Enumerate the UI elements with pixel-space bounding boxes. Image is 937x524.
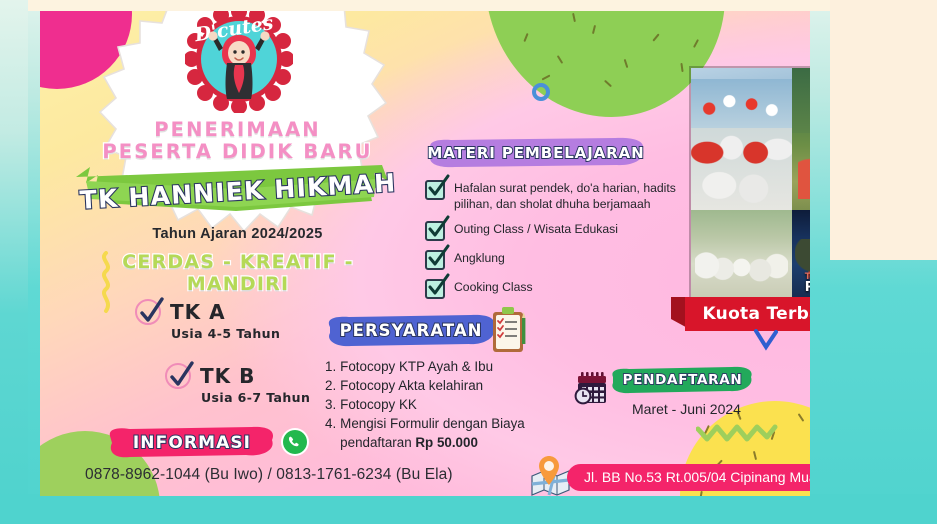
photo-samudra-people: [798, 156, 810, 199]
level-name: TK A: [170, 300, 226, 324]
materi-section: MATERI PEMBELAJARAN Hafalan surat pendek…: [425, 137, 695, 308]
quota-banner-text: Kuota Terbatas: [671, 297, 810, 331]
persyaratan-item: 3. Fotocopy KK: [325, 395, 565, 414]
check-circle-icon: [135, 299, 161, 325]
address-block: Jl. BB No.53 Rt.005/04 Cipinang Muara: [527, 454, 810, 496]
photo-profession-year: 2023 - 2024: [792, 233, 810, 238]
pendaftaran-date: Maret - Juni 2024: [632, 401, 755, 417]
materi-item: Outing Class / Wisata Edukasi: [425, 221, 695, 241]
decor-zigzag-green: [696, 423, 778, 443]
level-name: TK B: [200, 364, 255, 388]
window-top-strip: [0, 0, 937, 11]
materi-item-text: Cooking Class: [454, 279, 533, 295]
decor-green-blob-top: [485, 11, 725, 117]
materi-item: Cooking Class: [425, 279, 695, 299]
informasi-title-banner: INFORMASI: [108, 426, 276, 459]
materi-items: Hafalan surat pendek, do'a harian, hadit…: [425, 180, 695, 299]
photo-profession-subtitle: Dan Kami ada di Kegiatan Tahunan: [792, 226, 810, 231]
pendaftaran-title: PENDAFTARAN: [610, 366, 755, 394]
level-item-tk-b: TK B Usia 6-7 Tahun: [165, 363, 310, 405]
photo-samudra-title: Samudra: [792, 130, 810, 148]
level-age: Usia 4-5 Tahun: [171, 326, 310, 341]
item-fee: Rp 50.000: [415, 435, 478, 450]
school-logo: D'cutes: [185, 11, 293, 113]
check-circle-icon: [165, 363, 191, 389]
persyaratan-item: 4. Mengisi Formulir dengan Biaya pendaft…: [325, 414, 565, 452]
persyaratan-section: PERSYARATAN: [325, 314, 565, 452]
poster-title: PENERIMAAN PESERTA DIDIK BARU: [100, 119, 375, 163]
materi-item-text: Outing Class / Wisata Edukasi: [454, 221, 618, 237]
photo-the-profession: TK HANNIEK HIKMAH Dan Kami ada di Kegiat…: [792, 210, 810, 300]
photo-profession-title: THE PROFESSION: [805, 272, 810, 295]
item-text-2: pendaftaran: [340, 435, 415, 450]
informasi-section: INFORMASI: [108, 426, 276, 459]
photo-profession-school: TK HANNIEK HIKMAH: [792, 214, 810, 225]
school-motto: CERDAS - KREATIF - MANDIRI: [90, 251, 386, 295]
levels-list: TK A Usia 4-5 Tahun TK B Usia 6-7 Tahun: [135, 299, 310, 405]
clipboard-icon: [487, 306, 533, 361]
checkbox-checked-icon: [425, 250, 445, 270]
persyaratan-title-banner: PERSYARATAN: [325, 314, 497, 347]
decor-blue-arrow: [753, 329, 779, 356]
calendar-clock-icon: [574, 371, 610, 410]
photo-flag-ceremony: [691, 68, 792, 210]
pendaftaran-section: PENDAFTARAN Maret - Juni 2024: [610, 366, 755, 417]
checkbox-checked-icon: [425, 180, 445, 200]
persyaratan-item: 2. Fotocopy Akta kelahiran: [325, 376, 565, 395]
item-text: Fotocopy Akta kelahiran: [340, 376, 483, 395]
photo-samudra-park: Ocean Dream Samudra: [792, 68, 810, 210]
address-text: Jl. BB No.53 Rt.005/04 Cipinang Muara: [567, 464, 810, 491]
item-number: 2.: [325, 376, 336, 395]
level-item-tk-a: TK A Usia 4-5 Tahun: [135, 299, 310, 341]
whatsapp-icon[interactable]: [280, 427, 310, 462]
photo-outing-group: [691, 210, 792, 300]
photo-samudra-subtitle: Ocean Dream: [792, 118, 810, 124]
window-right-band: [830, 0, 937, 260]
item-number: 3.: [325, 395, 336, 414]
photo-profession-word: PROFESSION: [805, 280, 810, 295]
academic-year: Tahun Ajaran 2024/2025: [100, 226, 375, 242]
item-text: Mengisi Formulir dengan Biaya: [340, 416, 525, 431]
persyaratan-title: PERSYARATAN: [325, 314, 497, 347]
persyaratan-items: 1. Fotocopy KTP Ayah & Ibu 2. Fotocopy A…: [325, 357, 565, 452]
title-line-1: PENERIMAAN: [100, 119, 375, 141]
pendaftaran-title-banner: PENDAFTARAN: [610, 366, 755, 394]
checkbox-checked-icon: [425, 279, 445, 299]
photo-collage: Ocean Dream Samudra TK HANNIEK HIKMAH Da…: [691, 68, 810, 300]
informasi-title: INFORMASI: [108, 426, 276, 459]
item-number: 1.: [325, 357, 336, 376]
contact-phones: 0878-8962-1044 (Bu Iwo) / 0813-1761-6234…: [85, 466, 453, 484]
window-left-band: [0, 0, 28, 524]
materi-title-banner: MATERI PEMBELAJARAN: [425, 137, 647, 168]
checkbox-checked-icon: [425, 221, 445, 241]
materi-title: MATERI PEMBELAJARAN: [425, 137, 647, 168]
item-number: 4.: [325, 414, 336, 452]
materi-item-text: Angklung: [454, 250, 505, 266]
decor-blue-ring: [532, 83, 550, 101]
poster-canvas: D'cutes: [40, 11, 810, 496]
window-bottom-band: [0, 494, 937, 524]
materi-item-text: Hafalan surat pendek, do'a harian, hadit…: [454, 180, 695, 212]
level-age: Usia 6-7 Tahun: [201, 390, 310, 405]
materi-item: Hafalan surat pendek, do'a harian, hadit…: [425, 180, 695, 212]
quota-banner: Kuota Terbatas: [671, 297, 810, 331]
school-name-ribbon: TK HANNIEK HIKMAH: [76, 163, 400, 219]
materi-item: Angklung: [425, 250, 695, 270]
item-text: Fotocopy KK: [340, 395, 417, 414]
item-text: Fotocopy KTP Ayah & Ibu: [340, 357, 493, 376]
